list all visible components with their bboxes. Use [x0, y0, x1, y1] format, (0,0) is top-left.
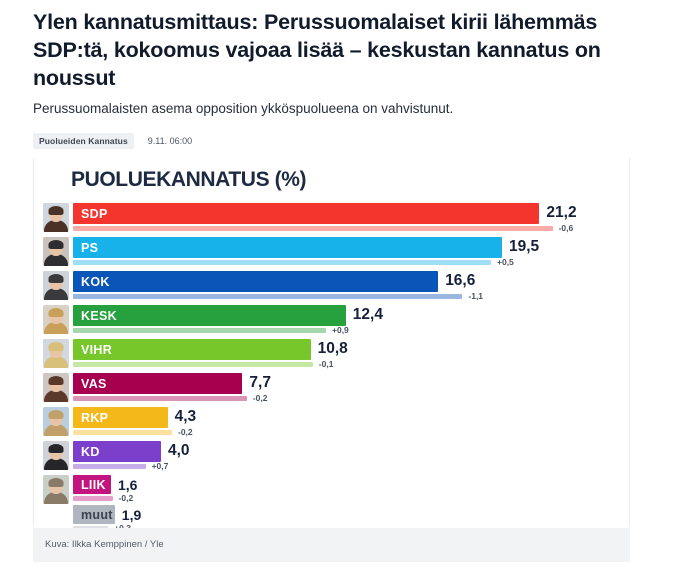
publish-timestamp: 9.11. 06:00 — [148, 136, 192, 146]
bar-value: 19,5 — [509, 236, 539, 258]
bar-track: KD4,0+0,7 — [73, 440, 623, 474]
bar-vas: VAS — [73, 373, 242, 394]
party-leader-avatar — [43, 305, 69, 334]
bar-track: RKP4,3-0,2 — [73, 406, 623, 440]
bar-row: KD4,0+0,7 — [43, 440, 623, 474]
party-leader-avatar — [43, 271, 69, 300]
article-page: Ylen kannatusmittaus: Perussuomalaiset k… — [0, 0, 693, 575]
party-leader-avatar — [43, 339, 69, 368]
party-label: KOK — [73, 275, 110, 289]
bar-rows: SDP21,2-0,6PS19,5+0,5KOK16,6-1,1KESK12,4… — [43, 202, 623, 534]
previous-level-bar — [73, 396, 247, 401]
bar-rkp: RKP — [73, 407, 168, 428]
party-label: muut — [73, 508, 113, 522]
bar-row: SDP21,2-0,6 — [43, 202, 623, 236]
party-leader-avatar — [43, 237, 69, 266]
bar-value: 10,8 — [318, 338, 348, 360]
bar-change: -0,1 — [319, 359, 334, 369]
bar-change: +0,5 — [497, 257, 514, 267]
bar-change: -1,1 — [468, 291, 483, 301]
party-label: LIIK — [73, 478, 106, 492]
bar-value: 4,0 — [168, 440, 190, 462]
bar-kesk: KESK — [73, 305, 346, 326]
bar-track: PS19,5+0,5 — [73, 236, 623, 270]
bar-track: LIIK1,6-0,2 — [73, 474, 623, 504]
bar-change: -0,6 — [559, 223, 574, 233]
bar-value: 21,2 — [546, 202, 576, 224]
party-leader-avatar — [43, 475, 69, 504]
party-label: VAS — [73, 377, 107, 391]
bar-muut: muut — [73, 505, 115, 524]
bar-change: -0,2 — [178, 427, 193, 437]
party-label: VIHR — [73, 343, 112, 357]
bar-row: KOK16,6-1,1 — [43, 270, 623, 304]
previous-level-bar — [73, 430, 172, 435]
bar-value: 16,6 — [445, 270, 475, 292]
bar-row: LIIK1,6-0,2 — [43, 474, 623, 504]
bar-track: KOK16,6-1,1 — [73, 270, 623, 304]
bar-change: -0,2 — [119, 493, 134, 503]
bar-change: +0,9 — [332, 325, 349, 335]
caption-strip: Kuva: Ilkka Kemppinen / Yle — [33, 528, 630, 562]
party-leader-avatar — [43, 407, 69, 436]
article-meta: Puolueiden Kannatus 9.11. 06:00 — [33, 133, 192, 149]
party-leader-avatar — [43, 441, 69, 470]
bar-row: VIHR10,8-0,1 — [43, 338, 623, 372]
page-title: Ylen kannatusmittaus: Perussuomalaiset k… — [33, 8, 633, 92]
previous-level-bar — [73, 328, 326, 333]
previous-level-bar — [73, 464, 146, 469]
bar-track: SDP21,2-0,6 — [73, 202, 623, 236]
party-label: KESK — [73, 309, 117, 323]
bar-value: 7,7 — [249, 372, 271, 394]
bar-vihr: VIHR — [73, 339, 311, 360]
bar-value: 4,3 — [175, 406, 197, 428]
bar-kok: KOK — [73, 271, 438, 292]
bar-row: VAS7,7-0,2 — [43, 372, 623, 406]
party-leader-avatar — [43, 373, 69, 402]
chart-title: PUOLUEKANNATUS (%) — [71, 168, 306, 192]
bar-row: PS19,5+0,5 — [43, 236, 623, 270]
previous-level-bar — [73, 294, 462, 299]
bar-row: RKP4,3-0,2 — [43, 406, 623, 440]
bar-kd: KD — [73, 441, 161, 462]
bar-liik: LIIK — [73, 475, 111, 494]
bar-ps: PS — [73, 237, 502, 258]
image-caption: Kuva: Ilkka Kemppinen / Yle — [45, 539, 164, 550]
bar-change: -0,2 — [253, 393, 268, 403]
party-leader-avatar — [43, 203, 69, 232]
bar-track: VIHR10,8-0,1 — [73, 338, 623, 372]
bar-value: 12,4 — [353, 304, 383, 326]
party-label: KD — [73, 445, 100, 459]
party-label: SDP — [73, 207, 108, 221]
bar-track: KESK12,4+0,9 — [73, 304, 623, 338]
topic-tag[interactable]: Puolueiden Kannatus — [33, 133, 134, 149]
previous-level-bar — [73, 260, 491, 265]
article-standfirst: Perussuomalaisten asema opposition ykkös… — [33, 100, 633, 118]
previous-level-bar — [73, 362, 313, 367]
bar-change: +0,7 — [152, 461, 169, 471]
previous-level-bar — [73, 226, 553, 231]
party-label: PS — [73, 241, 98, 255]
bar-sdp: SDP — [73, 203, 539, 224]
bar-row: KESK12,4+0,9 — [43, 304, 623, 338]
poll-graphic: PUOLUEKANNATUS (%) SDP21,2-0,6PS19,5+0,5… — [33, 158, 630, 526]
party-label: RKP — [73, 411, 108, 425]
bar-track: VAS7,7-0,2 — [73, 372, 623, 406]
previous-level-bar — [73, 496, 113, 501]
